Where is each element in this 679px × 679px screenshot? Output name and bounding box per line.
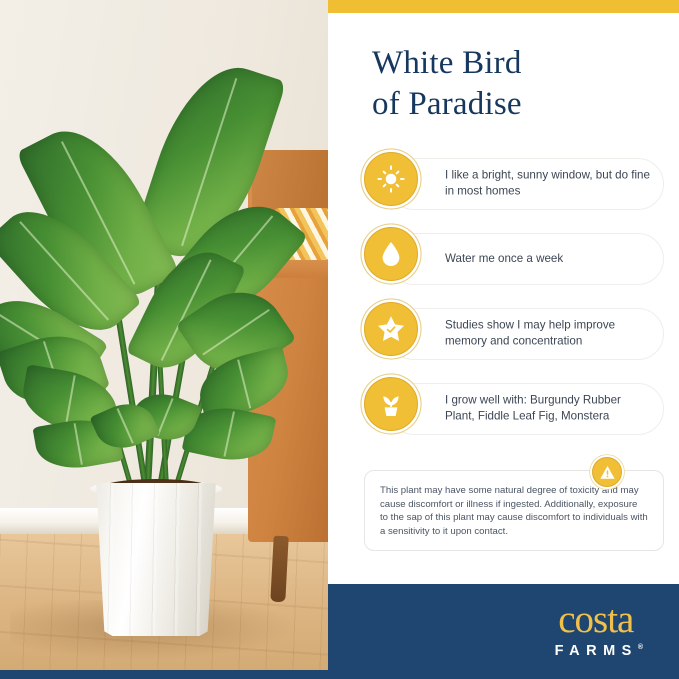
care-tip-pill: I grow well with: Burgundy Rubber Plant,… <box>388 383 664 435</box>
bottom-navy-strip <box>0 670 328 679</box>
sun-icon <box>364 152 418 206</box>
logo-subtext: FARMS® <box>549 640 643 659</box>
page-title-line1: White Bird <box>372 43 662 84</box>
product-infographic-card: White Bird of Paradise I like a bright, … <box>0 0 679 679</box>
toxicity-warning-box: This plant may have some natural degree … <box>364 470 664 551</box>
toxicity-warning-text: This plant may have some natural degree … <box>380 484 648 538</box>
care-tips-list: I like a bright, sunny window, but do fi… <box>364 152 664 452</box>
star-check-icon <box>364 302 418 356</box>
care-tip-pill: Water me once a week <box>388 233 664 285</box>
care-tip-label: Water me once a week <box>445 251 651 267</box>
care-tip-label: Studies show I may help improve memory a… <box>445 318 651 351</box>
care-tip-label: I grow well with: Burgundy Rubber Plant,… <box>445 393 651 426</box>
water-drop-icon <box>364 227 418 281</box>
page-title-line2: of Paradise <box>372 84 662 125</box>
logo-wordmark: costa <box>549 600 643 640</box>
care-tip-pill: Studies show I may help improve memory a… <box>388 308 664 360</box>
info-panel: White Bird of Paradise I like a bright, … <box>328 0 679 679</box>
list-item: Studies show I may help improve memory a… <box>364 302 664 370</box>
list-item: I grow well with: Burgundy Rubber Plant,… <box>364 377 664 445</box>
list-item: I like a bright, sunny window, but do fi… <box>364 152 664 220</box>
care-tip-pill: I like a bright, sunny window, but do fi… <box>388 158 664 210</box>
care-tip-label: I like a bright, sunny window, but do fi… <box>445 168 651 201</box>
registered-mark: ® <box>638 644 643 651</box>
brand-footer: costa FARMS® <box>328 584 679 679</box>
product-photo <box>0 0 328 679</box>
list-item: Water me once a week <box>364 227 664 295</box>
logo-subtext-word: FARMS <box>555 643 638 659</box>
warning-triangle-icon <box>592 457 622 487</box>
potted-plant-icon <box>364 377 418 431</box>
costa-farms-logo: costa FARMS® <box>549 600 643 659</box>
page-title: White Bird of Paradise <box>372 43 662 125</box>
pot-facets <box>88 483 224 636</box>
gold-top-bar <box>328 0 679 13</box>
